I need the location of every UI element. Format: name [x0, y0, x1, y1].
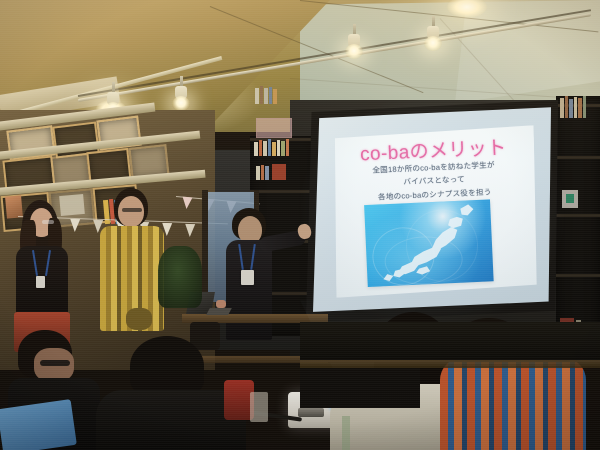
hand-on-laptop — [216, 300, 226, 308]
slide-japan-map-image — [364, 199, 494, 287]
track-light-2 — [172, 76, 190, 112]
potted-plant — [158, 246, 202, 308]
slide-body: 全国18か所のco-baを訪ねた学生が バイパスとなって 各地のco-baのシナ… — [332, 156, 536, 205]
back-counter — [300, 322, 600, 362]
bookcase-notice-card — [256, 118, 292, 138]
bookcase-right — [556, 96, 600, 356]
glasses-icon — [42, 220, 54, 224]
presenter-name-badge — [241, 270, 254, 285]
projector-lens — [298, 408, 324, 417]
blue-laptop-lid — [0, 399, 77, 450]
paper-stack — [250, 392, 268, 422]
counter-edge — [300, 360, 600, 368]
track-light-4 — [424, 16, 442, 52]
hands — [126, 308, 152, 330]
man-standing-plaid — [100, 188, 166, 353]
woman-standing — [14, 200, 76, 350]
doorway-frame-left — [202, 190, 208, 304]
counter-shelf — [300, 368, 420, 408]
presentation-slide: co-baのメリット 全国18か所のco-baを訪ねた学生が バイパスとなって … — [332, 125, 539, 298]
japan-map-silhouette — [364, 199, 494, 287]
track-light-3 — [345, 24, 363, 60]
glasses-icon-2 — [122, 208, 142, 212]
presentation-room-photo: co-baのメリット 全国18か所のco-baを訪ねた学生が バイパスとなって … — [0, 0, 600, 450]
